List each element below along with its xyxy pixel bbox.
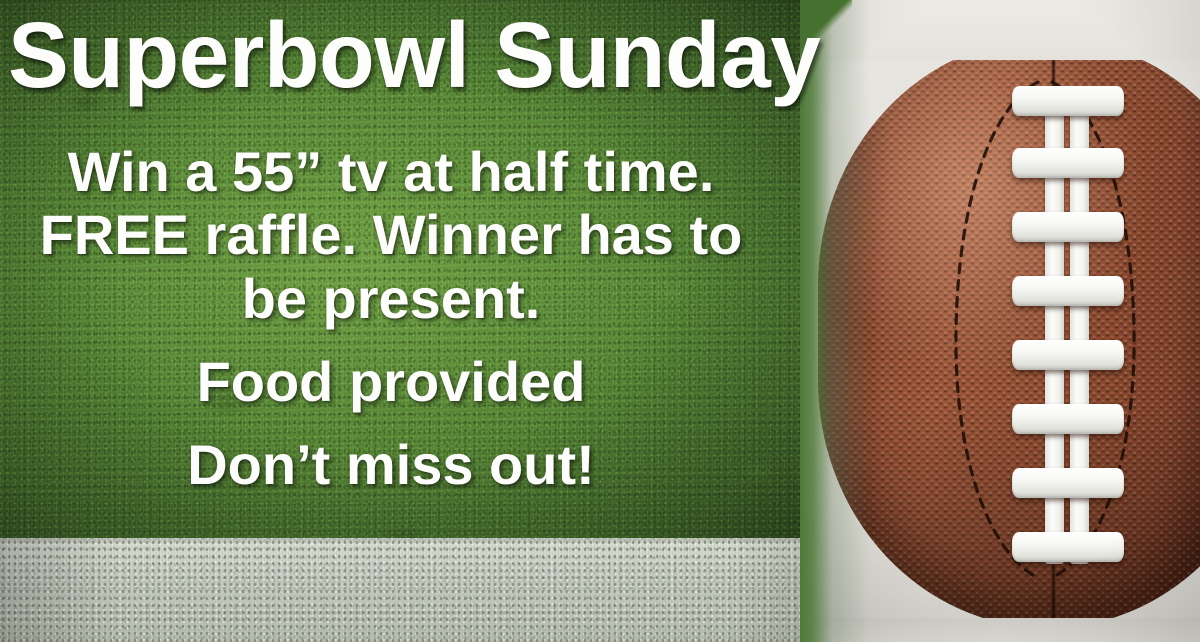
football-laces bbox=[1014, 80, 1122, 580]
cross-lace bbox=[1012, 212, 1124, 242]
cross-lace bbox=[1012, 404, 1124, 434]
yard-line-stripe bbox=[0, 538, 845, 642]
cross-lace bbox=[1012, 468, 1124, 498]
photo-corner-grass bbox=[800, 0, 852, 56]
cross-lace bbox=[1012, 340, 1124, 370]
cross-lace bbox=[1012, 532, 1124, 562]
football-icon bbox=[818, 38, 1200, 628]
photo-bottom-background bbox=[800, 618, 1200, 642]
football-photo-panel bbox=[800, 0, 1200, 642]
cross-lace bbox=[1012, 276, 1124, 306]
cross-lace bbox=[1012, 148, 1124, 178]
photo-top-background bbox=[800, 0, 1200, 60]
football-shading bbox=[818, 38, 1200, 628]
superbowl-sunday-flyer: Superbowl Sunday Win a 55” tv at half ti… bbox=[0, 0, 1200, 642]
cross-lace bbox=[1012, 86, 1124, 116]
yard-line-vignette bbox=[0, 538, 845, 642]
